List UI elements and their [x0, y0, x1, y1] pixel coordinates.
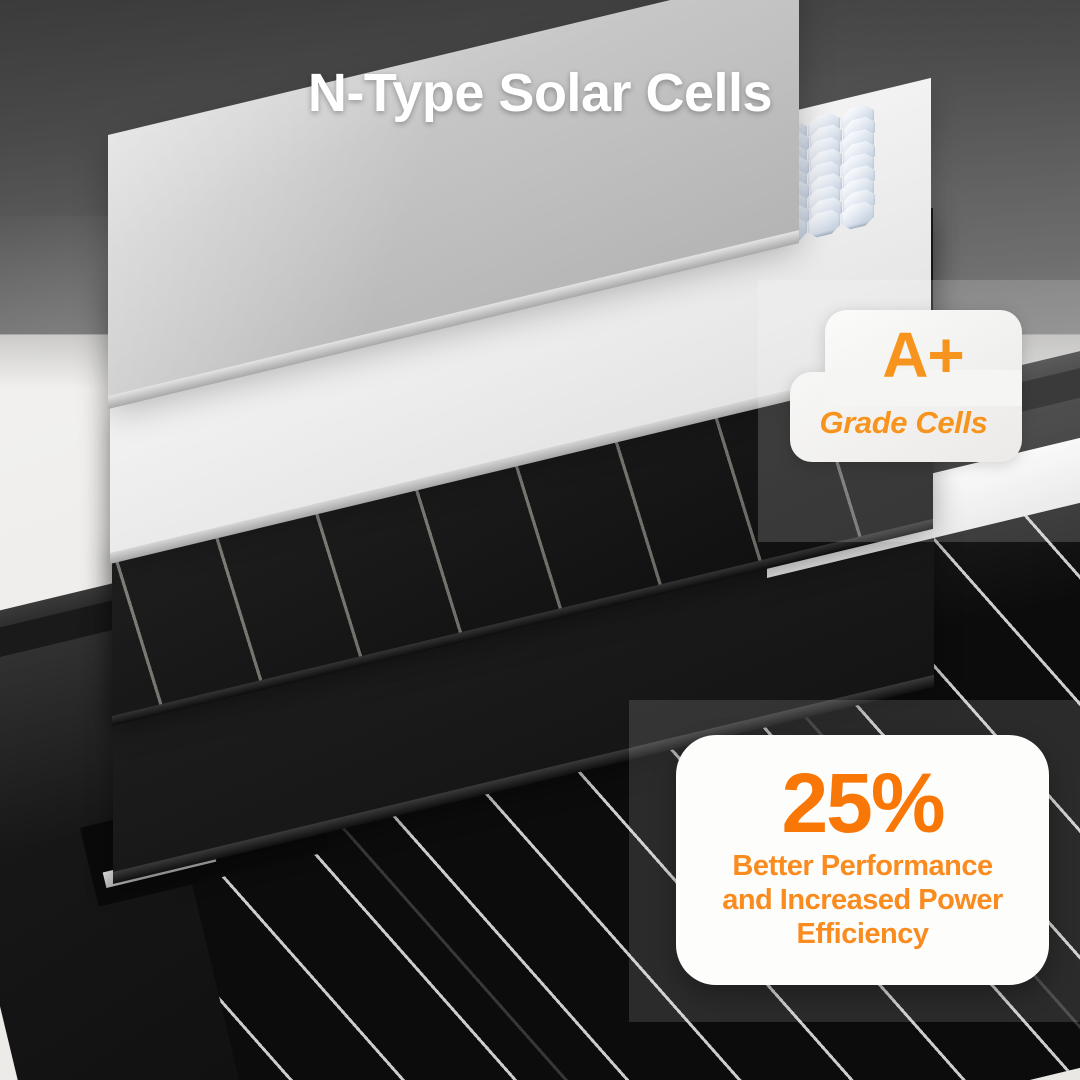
grade-badge-headline: A+ [825, 316, 1021, 394]
performance-badge-line-3: Efficiency [722, 918, 1003, 952]
performance-badge-line-1: Better Performance [722, 850, 1003, 884]
performance-badge-headline: 25% [781, 764, 943, 844]
grade-badge[interactable]: A+ Grade Cells [790, 310, 1022, 462]
grade-badge-subline: Grade Cells [796, 396, 1011, 450]
performance-badge-line-2: and Increased Power [722, 884, 1003, 918]
performance-badge-body: Better Performance and Increased Power E… [722, 850, 1003, 952]
product-scene: N-Type Solar Cells A+ Grade Cells 25% Be… [0, 0, 1080, 1080]
page-title: N-Type Solar Cells [0, 62, 1080, 124]
performance-badge[interactable]: 25% Better Performance and Increased Pow… [676, 735, 1049, 985]
